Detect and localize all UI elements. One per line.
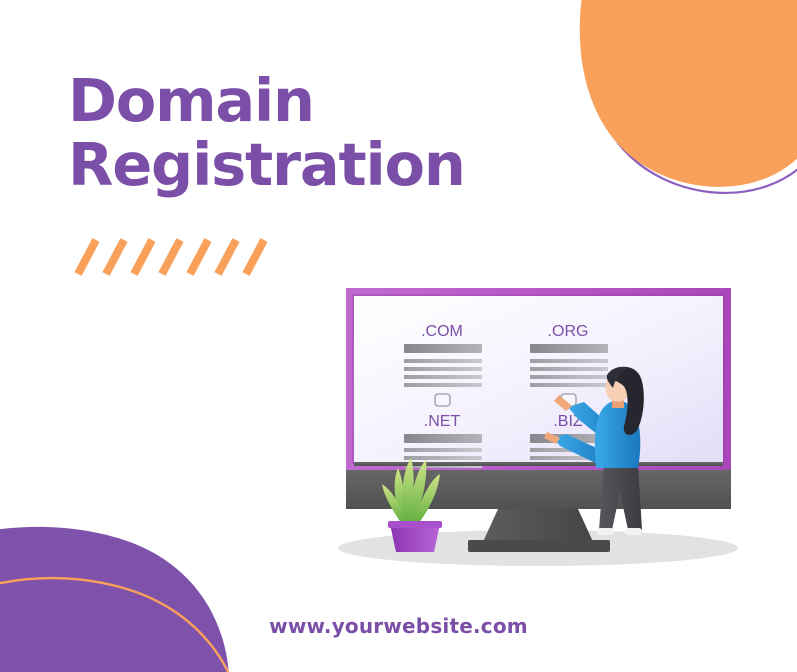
- decorative-blob-top-right: [569, 0, 797, 220]
- accent-slashes: [70, 236, 270, 278]
- poster-canvas: Domain Registration: [0, 0, 797, 672]
- domain-line-net-1: [404, 448, 482, 452]
- monitor-illustration: .COM .ORG .NET: [316, 278, 756, 578]
- plant-pot: [390, 524, 440, 552]
- domain-label-com: .COM: [421, 323, 463, 340]
- domain-label-net: .NET: [424, 413, 461, 430]
- domain-line-com-2: [404, 367, 482, 371]
- domain-bar-org: [530, 344, 608, 353]
- domain-line-org-2: [530, 367, 608, 371]
- plant-pot-rim: [388, 521, 442, 528]
- domain-bar-com: [404, 344, 482, 353]
- domain-bar-net: [404, 434, 482, 443]
- domain-line-com-3: [404, 375, 482, 379]
- page-title: Domain Registration: [68, 72, 538, 194]
- domain-line-org-3: [530, 375, 608, 379]
- domain-line-com-1: [404, 359, 482, 363]
- website-url[interactable]: www.yourwebsite.com: [0, 614, 797, 638]
- decorative-blob-bottom-left: [0, 472, 300, 672]
- person-shoe-left: [597, 528, 614, 535]
- title-line-2: Registration: [68, 136, 538, 194]
- monitor-stand-base: [468, 540, 610, 552]
- domain-line-net-2: [404, 456, 482, 460]
- domain-line-org-4: [530, 383, 608, 387]
- monitor-stand-neck: [482, 509, 594, 544]
- title-line-1: Domain: [68, 72, 538, 130]
- domain-label-org: .ORG: [548, 323, 589, 340]
- domain-line-com-4: [404, 383, 482, 387]
- domain-line-org-1: [530, 359, 608, 363]
- domain-checkbox-com: [435, 394, 450, 406]
- person-shoe-right: [625, 528, 642, 535]
